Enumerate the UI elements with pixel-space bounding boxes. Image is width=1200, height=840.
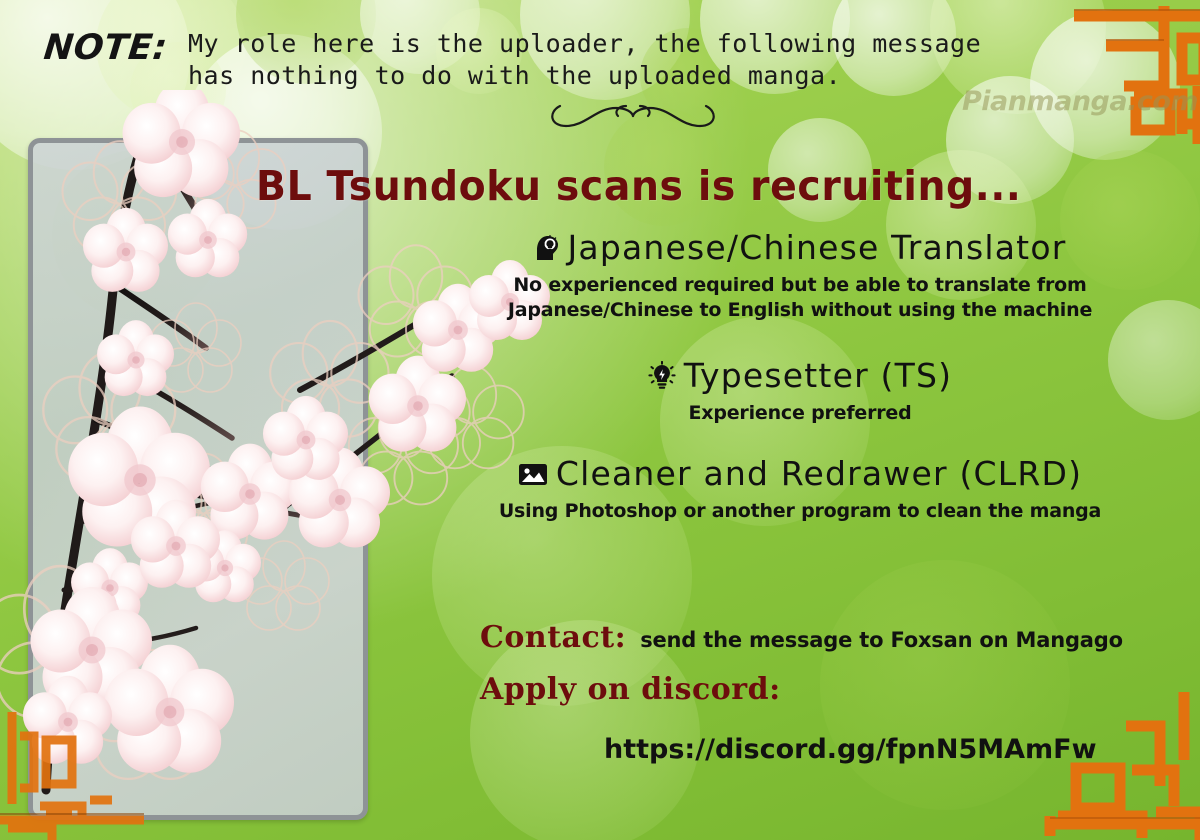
contact-value: send the message to Foxsan on Mangago — [640, 628, 1123, 652]
contact-row: Contact: send the message to Foxsan on M… — [480, 620, 1123, 655]
discord-url[interactable]: https://discord.gg/fpnN5MAmFw — [604, 734, 1097, 765]
roles-column: Japanese/Chinese Translator No experienc… — [400, 228, 1200, 524]
page-title: BL Tsundoku scans is recruiting... — [256, 162, 1162, 210]
role-cleaner: Cleaner and Redrawer (CLRD) — [400, 454, 1200, 493]
bokeh-circle — [820, 560, 1070, 810]
role-translator-desc: No experienced required but be able to t… — [400, 273, 1200, 322]
role-typesetter: Typesetter (TS) — [400, 356, 1200, 395]
image-icon — [518, 461, 548, 487]
role-cleaner-title: Cleaner and Redrawer (CLRD) — [556, 454, 1082, 493]
watermark: Pianmanga.com — [962, 86, 1198, 117]
contact-label: Contact: — [480, 620, 626, 655]
head-lightbulb-icon — [534, 233, 560, 263]
apply-label: Apply on discord: — [480, 672, 781, 707]
note-body: My role here is the uploader, the follow… — [188, 28, 1068, 92]
role-translator-title: Japanese/Chinese Translator — [568, 228, 1067, 267]
lightbulb-icon — [648, 361, 676, 391]
role-typesetter-desc: Experience preferred — [400, 401, 1200, 426]
note-label: NOTE: — [42, 28, 170, 68]
role-translator: Japanese/Chinese Translator — [400, 228, 1200, 267]
flourish-divider-icon — [548, 96, 718, 138]
role-cleaner-desc: Using Photoshop or another program to cl… — [400, 499, 1200, 524]
role-typesetter-title: Typesetter (TS) — [684, 356, 952, 395]
decorative-gray-panel — [28, 138, 368, 820]
recruitment-poster: NOTE: My role here is the uploader, the … — [0, 0, 1200, 840]
